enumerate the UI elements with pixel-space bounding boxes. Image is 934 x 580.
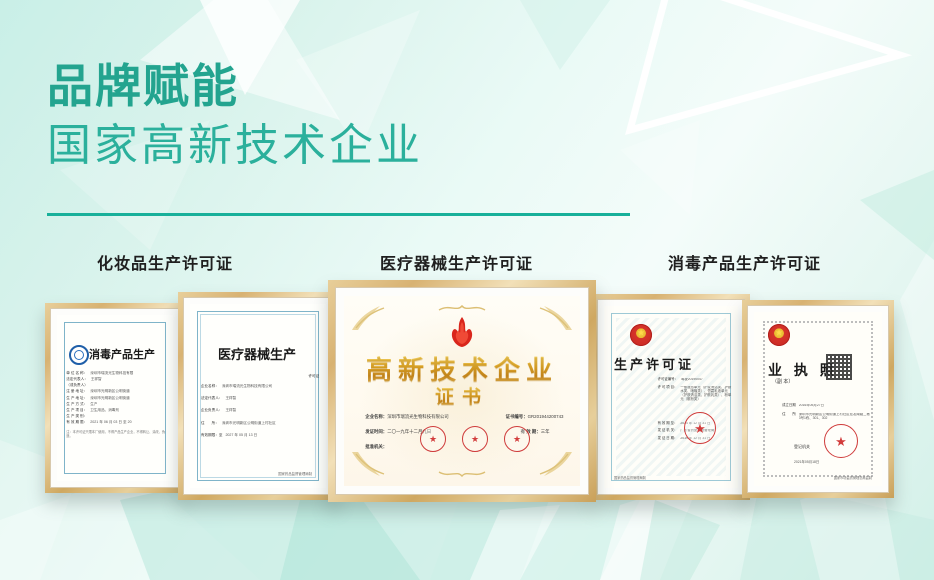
field-row: 企业名称：深圳市瑞流光生物科技有限公司 — [201, 384, 319, 388]
certificate-frame-business-license[interactable]: ★ 业 执 照 （副 本） 成立日期2016年05月27日 住 所深圳市光明新区… — [742, 300, 894, 498]
field-row: 有效期限：至2027 年 05 月 13 日 — [201, 433, 319, 437]
certificate-title-high-tech-sub: 证书 — [344, 382, 580, 409]
certificate-frame-disinfection[interactable]: 消毒产品生产 单 位 名 称：深圳市瑞流光生物科技有限 法定代表人：王祥智 （或… — [45, 303, 185, 493]
field-row: 成立日期2016年05月27日 — [782, 404, 872, 408]
field-row: 单 位 名 称：深圳市瑞流光生物科技有限 — [66, 371, 167, 375]
header-divider — [47, 213, 630, 216]
certificate-note: 注：本许可证只限本厂使用，不得产品生产企业，不得转让、涂改、伪造。 — [66, 430, 167, 438]
header-block: 品牌赋能 国家高新技术企业 — [47, 62, 423, 173]
certificate-frame-production-license[interactable]: ★ 生产许可证 许可证编号：粤妆20190047 许 可 项 目：一般液态单元（… — [592, 294, 750, 500]
red-seal-icon: ★ — [504, 426, 530, 452]
field-row: （或负责人） — [66, 383, 167, 387]
certificate-frame-high-tech-enterprise[interactable]: 高新技术企业 证书 企业名称：深圳市瑞流光生物科技有限公司 证书编号：GR201… — [328, 280, 596, 502]
top-ornament-icon — [435, 302, 489, 314]
certificate-footer-medical-device: 国家药品监督管理局制 — [190, 471, 312, 476]
certificate-fields-business-license: 成立日期2016年05月27日 住 所深圳市光明新区公明街道上村社区宏发南路二巷… — [782, 404, 872, 423]
certificate-frame-medical-device[interactable]: 医疗器械生产 许可证 企业名称：深圳市瑞流光生物科技有限公司 法定代表人：王祥智… — [178, 292, 338, 500]
page-title-secondary: 国家高新技术企业 — [47, 118, 423, 173]
certificate-title-production-license: 生产许可证 — [614, 354, 738, 373]
field-row: 许 可 项 目：一般液态单元（护发清洁类、护肤水类、啫喱类）、膏霜乳液单元（护肤… — [658, 386, 733, 402]
field-row: 住 所：深圳市光明新区公明街道上村社区 — [201, 421, 319, 425]
red-seal-icon: ★ — [420, 426, 446, 452]
field-row: 许可证编号：粤妆20190047 — [658, 378, 733, 382]
field-row: 企业名称：深圳市瑞流光生物科技有限公司 证书编号：GR201944200743 — [365, 414, 563, 420]
field-row: 法定代表人：王祥智 — [201, 396, 319, 400]
field-row: 生 产 项 目：卫生用品、消毒剂 — [66, 408, 167, 412]
certificate-fields-medical-device: 许可证 企业名称：深圳市瑞流光生物科技有限公司 法定代表人：王祥智 企业负责人：… — [201, 374, 319, 439]
field-row: 有 效 期 限：2021 年 06 月 03 日 至 20 — [66, 420, 167, 424]
corner-ornament-icon — [350, 302, 392, 332]
promo-banner: 品牌赋能 国家高新技术企业 化妆品生产许可证 医疗器械生产许可证 消毒产品生产许… — [0, 0, 934, 580]
bottom-ornament-icon — [435, 468, 489, 480]
field-row: 企业负责人：王祥智 — [201, 408, 319, 412]
certificate-footer-business-license: 国家市场监督管理总局监制 — [754, 475, 872, 480]
corner-ornament-icon — [350, 450, 392, 480]
national-emblem-icon: ★ — [630, 324, 652, 346]
corner-ornament-icon — [532, 450, 574, 480]
certificate-title-business-license: 业 执 照 — [768, 360, 882, 380]
caption-cosmetics-license: 化妆品生产许可证 — [97, 250, 233, 274]
certificate-title-medical-device: 医疗器械生产 — [218, 344, 326, 363]
corner-ornament-icon — [532, 302, 574, 332]
red-flame-logo-icon — [447, 316, 477, 348]
certificate-subtitle-business-license: （副 本） — [772, 378, 793, 385]
field-row: 生 产 地 址：深圳市光明新区公明街道 — [66, 396, 167, 400]
field-row: 许可证 — [201, 374, 319, 378]
field-row: 法定代表人：王祥智 — [66, 377, 167, 381]
field-row: 注 册 地 址：深圳市光明新区公明街道 — [66, 389, 167, 393]
certificate-fields-disinfection: 单 位 名 称：深圳市瑞流光生物科技有限 法定代表人：王祥智 （或负责人） 注 … — [66, 371, 167, 438]
caption-disinfection-license: 消毒产品生产许可证 — [668, 250, 821, 274]
caption-medical-device-license: 医疗器械生产许可证 — [380, 250, 533, 274]
certificate-title-disinfection: 消毒产品生产 — [89, 346, 173, 362]
certificate-gallery: 消毒产品生产 单 位 名 称：深圳市瑞流光生物科技有限 法定代表人：王祥智 （或… — [0, 280, 934, 510]
certificate-footer-production-license: 国家药品监督管理局制 — [614, 475, 738, 480]
national-emblem-icon: ★ — [768, 324, 790, 346]
qr-code-icon — [826, 354, 852, 380]
red-seal-icon: ★ — [462, 426, 488, 452]
field-row: 生 产 方 式：生产 — [66, 402, 167, 406]
field-row: 生 产 类 别： — [66, 414, 167, 418]
page-title-primary: 品牌赋能 — [47, 62, 423, 110]
registry-date: 2021年05月18日 — [794, 459, 819, 464]
registry-label: 登记机关 — [794, 444, 810, 450]
red-seal-icon: ★ — [684, 412, 716, 444]
red-seal-icon: ★ — [824, 424, 858, 458]
blue-circle-emblem-icon — [69, 345, 89, 365]
field-row: 住 所深圳市光明新区公明街道上村社区宏发南路二巷3号1栋、301、302 — [782, 413, 872, 421]
